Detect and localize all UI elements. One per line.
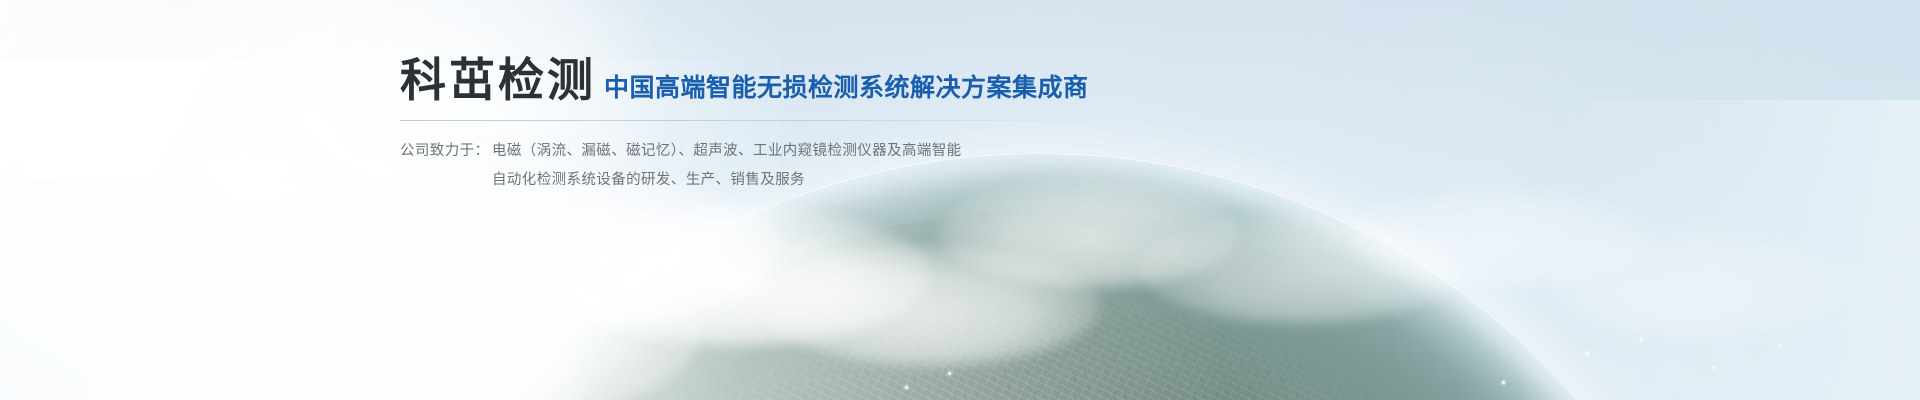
sailboat-speck: [1586, 352, 1589, 355]
description-lead-label: 公司致力于：: [400, 137, 492, 166]
title-row: 科茁检测 中国高端智能无损检测系统解决方案集成商: [400, 56, 1160, 104]
brand-tagline: 中国高端智能无损检测系统解决方案集成商: [604, 75, 1089, 104]
sailboat-speck: [1778, 344, 1781, 347]
description-line-1: 电磁（涡流、漏磁、磁记忆）、超声波、工业内窥镜检测仪器及高端智能: [492, 143, 962, 159]
banner-copy-block: 科茁检测 中国高端智能无损检测系统解决方案集成商 公司致力于：电磁（涡流、漏磁、…: [400, 56, 1160, 195]
sailboat-speck: [1502, 381, 1505, 384]
sailboat-speck: [1640, 338, 1643, 341]
description-line-2: 自动化检测系统设备的研发、生产、销售及服务: [400, 166, 1160, 195]
divider-rule: [400, 120, 1100, 121]
sailboat-speck: [948, 372, 951, 375]
sailboat-speck: [1712, 366, 1715, 369]
brand-title: 科茁检测: [400, 56, 596, 104]
hero-banner: 科茁检测 中国高端智能无损检测系统解决方案集成商 公司致力于：电磁（涡流、漏磁、…: [0, 0, 1920, 400]
company-description: 公司致力于：电磁（涡流、漏磁、磁记忆）、超声波、工业内窥镜检测仪器及高端智能 自…: [400, 137, 1160, 195]
sailboat-speck: [905, 386, 908, 389]
